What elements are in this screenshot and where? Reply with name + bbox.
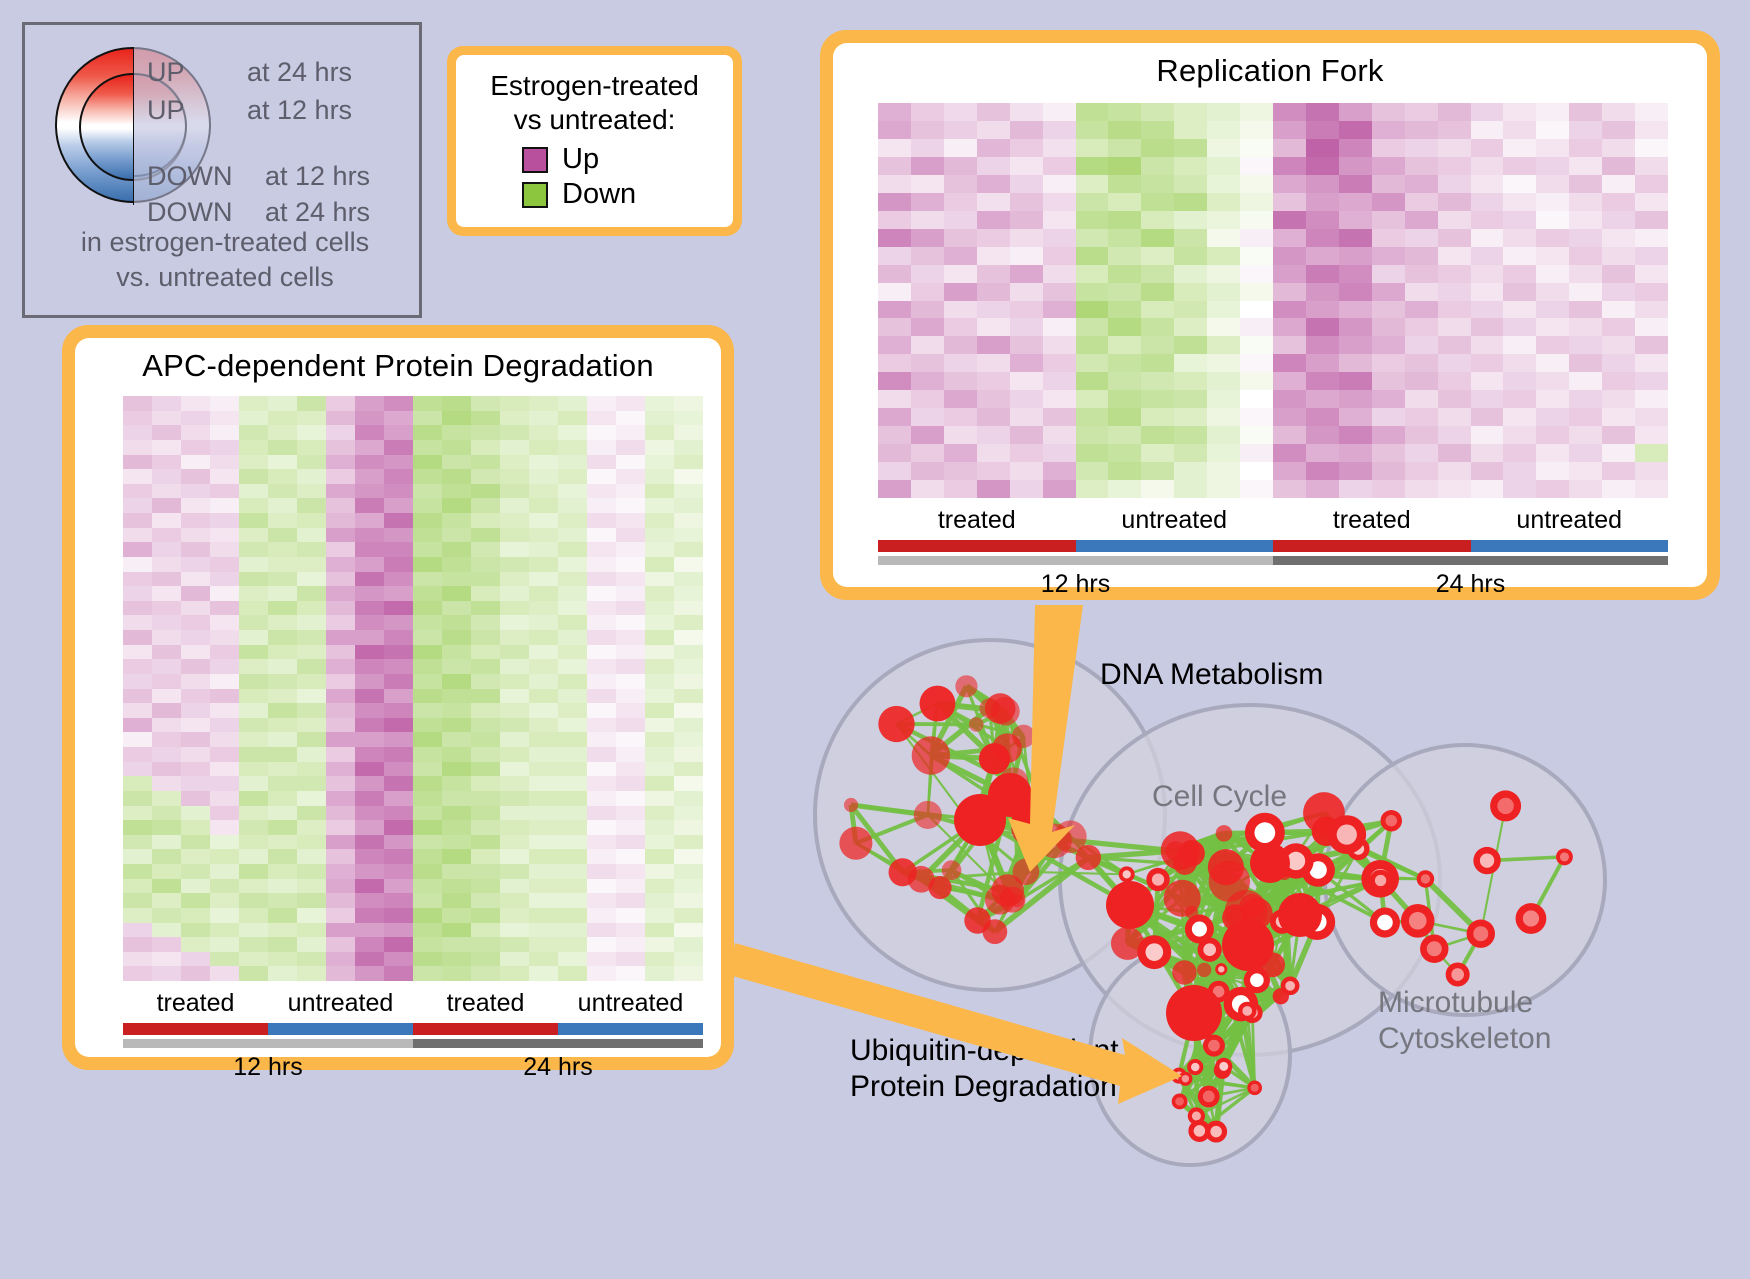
heatmap-cell	[1273, 283, 1306, 301]
heatmap-cell	[297, 615, 326, 630]
heatmap-cell	[326, 966, 355, 981]
heatmap-cell	[123, 908, 152, 923]
heatmap-cell	[645, 879, 674, 894]
heatmap-cell	[645, 937, 674, 952]
heatmap-cell	[355, 484, 384, 499]
heatmap-cell	[616, 425, 645, 440]
heatmap-cell	[1602, 426, 1635, 444]
heatmap-cell	[500, 630, 529, 645]
heatmap-cell	[1405, 426, 1438, 444]
heatmap-cell	[442, 425, 471, 440]
heatmap-cell	[674, 806, 703, 821]
heatmap-cell	[500, 674, 529, 689]
network-node	[839, 827, 872, 860]
heatmap-cell	[1043, 301, 1076, 319]
heatmap-cell	[587, 411, 616, 426]
heatmap-cell	[442, 864, 471, 879]
heatmap-cell	[442, 923, 471, 938]
heatmap-cell	[674, 440, 703, 455]
heatmap-cell	[674, 484, 703, 499]
heatmap-cell	[529, 923, 558, 938]
heatmap-cell	[944, 336, 977, 354]
heatmap-cell	[1273, 175, 1306, 193]
heatmap-cell	[471, 615, 500, 630]
heatmap-cell	[152, 776, 181, 791]
network-node	[985, 885, 1015, 915]
heatmap-cell	[558, 542, 587, 557]
replication-fork-title: Replication Fork	[833, 43, 1707, 89]
heatmap-cell	[210, 615, 239, 630]
heatmap-cell	[239, 732, 268, 747]
heatmap-cell	[529, 893, 558, 908]
heatmap-cell	[326, 469, 355, 484]
network-node-core-fill	[1191, 1063, 1199, 1071]
heatmap-cell	[413, 966, 442, 981]
network-node	[988, 773, 1032, 817]
heatmap-cell	[268, 601, 297, 616]
heatmap-cell	[1438, 175, 1471, 193]
heatmap-cell	[123, 411, 152, 426]
heatmap-cell	[210, 893, 239, 908]
apc-time-bar	[123, 1039, 703, 1048]
heatmap-cell	[1602, 247, 1635, 265]
heatmap-cell	[384, 455, 413, 470]
heatmap-cell	[1405, 265, 1438, 283]
heatmap-cell	[355, 455, 384, 470]
heatmap-cell	[1043, 372, 1076, 390]
heatmap-cell	[1207, 480, 1240, 498]
heatmap-cell	[123, 498, 152, 513]
heatmap-cell	[471, 732, 500, 747]
heatmap-cell	[587, 879, 616, 894]
heatmap-cell	[442, 411, 471, 426]
heatmap-cell	[384, 586, 413, 601]
heatmap-cell	[239, 557, 268, 572]
heatmap-cell	[1240, 247, 1273, 265]
heatmap-cell	[1207, 157, 1240, 175]
heatmap-cell	[471, 586, 500, 601]
heatmap-cell	[1339, 211, 1372, 229]
heatmap-cell	[1141, 336, 1174, 354]
heatmap-cell	[1471, 390, 1504, 408]
heatmap-cell	[181, 908, 210, 923]
heatmap-cell	[297, 952, 326, 967]
heatmap-cell	[355, 674, 384, 689]
heatmap-cell	[1207, 390, 1240, 408]
heatmap-cell	[1043, 336, 1076, 354]
heatmap-cell	[355, 835, 384, 850]
heatmap-cell	[123, 572, 152, 587]
heatmap-cell	[471, 952, 500, 967]
heatmap-cell	[1372, 301, 1405, 319]
legend-item-down: Down	[522, 178, 723, 211]
heatmap-cell	[442, 645, 471, 660]
heatmap-cell	[645, 849, 674, 864]
heatmap-cell	[442, 893, 471, 908]
heatmap-cell	[558, 615, 587, 630]
network-node	[1076, 845, 1101, 870]
heatmap-cell	[977, 211, 1010, 229]
heatmap-cell	[1010, 103, 1043, 121]
heatmap-cell	[1635, 390, 1668, 408]
heatmap-cell	[355, 425, 384, 440]
heatmap-cell	[1503, 175, 1536, 193]
heatmap-cell	[326, 674, 355, 689]
heatmap-cell	[297, 791, 326, 806]
heatmap-cell	[1010, 354, 1043, 372]
heatmap-cell	[587, 528, 616, 543]
heatmap-cell	[1043, 193, 1076, 211]
heatmap-cell	[558, 601, 587, 616]
heatmap-cell	[1240, 121, 1273, 139]
network-node	[1013, 858, 1040, 885]
heatmap-cell	[297, 820, 326, 835]
network-svg	[800, 615, 1750, 1279]
heatmap-cell	[558, 762, 587, 777]
up-label: Up	[562, 143, 599, 176]
heatmap-cell	[529, 864, 558, 879]
heatmap-cell	[123, 630, 152, 645]
network-node-core-fill	[1146, 943, 1164, 961]
network-node	[878, 706, 914, 742]
heatmap-cell	[1306, 283, 1339, 301]
heatmap-cell	[181, 411, 210, 426]
heatmap-cell	[529, 645, 558, 660]
heatmap-cell	[326, 513, 355, 528]
heatmap-cell	[326, 601, 355, 616]
heatmap-cell	[1405, 103, 1438, 121]
heatmap-cell	[152, 513, 181, 528]
heatmap-cell	[500, 440, 529, 455]
heatmap-cell	[674, 864, 703, 879]
heatmap-cell	[1240, 318, 1273, 336]
heatmap-cell	[558, 747, 587, 762]
heatmap-cell	[1569, 175, 1602, 193]
heatmap-cell	[268, 572, 297, 587]
heatmap-cell	[123, 674, 152, 689]
heatmap-cell	[1405, 318, 1438, 336]
heatmap-cell	[1141, 480, 1174, 498]
heatmap-cell	[1108, 426, 1141, 444]
heatmap-cell	[529, 572, 558, 587]
heatmap-cell	[297, 659, 326, 674]
heatmap-cell	[1141, 444, 1174, 462]
heatmap-cell	[558, 718, 587, 733]
heatmap-cell	[1405, 211, 1438, 229]
heatmap-cell	[297, 966, 326, 981]
heatmap-cell	[384, 893, 413, 908]
heatmap-cell	[587, 849, 616, 864]
heatmap-cell	[1240, 103, 1273, 121]
heatmap-cell	[1108, 444, 1141, 462]
heatmap-cell	[384, 601, 413, 616]
heatmap-cell	[442, 937, 471, 952]
heatmap-cell	[645, 425, 674, 440]
heatmap-cell	[413, 718, 442, 733]
heatmap-cell	[529, 542, 558, 557]
heatmap-cell	[911, 480, 944, 498]
heatmap-cell	[442, 835, 471, 850]
heatmap-cell	[1471, 211, 1504, 229]
heatmap-cell	[977, 121, 1010, 139]
heatmap-cell	[944, 229, 977, 247]
heatmap-cell	[413, 923, 442, 938]
updown-title-line-2: vs untreated:	[466, 103, 723, 137]
heatmap-cell	[123, 835, 152, 850]
heatmap-cell	[239, 835, 268, 850]
heatmap-cell	[500, 937, 529, 952]
heatmap-cell	[1503, 265, 1536, 283]
heatmap-cell	[1108, 318, 1141, 336]
heatmap-cell	[413, 557, 442, 572]
heatmap-cell	[123, 484, 152, 499]
heatmap-cell	[1569, 247, 1602, 265]
heatmap-cell	[645, 542, 674, 557]
heatmap-cell	[181, 542, 210, 557]
heatmap-cell	[1043, 121, 1076, 139]
heatmap-cell	[210, 747, 239, 762]
heatmap-cell	[1569, 121, 1602, 139]
heatmap-cell	[1372, 121, 1405, 139]
heatmap-cell	[181, 557, 210, 572]
network-node	[912, 736, 950, 774]
treatment-color-bar-segment	[268, 1023, 413, 1035]
heatmap-cell	[1569, 372, 1602, 390]
heatmap-cell	[558, 732, 587, 747]
heatmap-cell	[384, 484, 413, 499]
heatmap-cell	[1471, 247, 1504, 265]
heatmap-cell	[297, 528, 326, 543]
heatmap-cell	[1174, 175, 1207, 193]
heatmap-cell	[529, 879, 558, 894]
heatmap-cell	[529, 806, 558, 821]
heatmap-cell	[326, 557, 355, 572]
heatmap-cell	[674, 513, 703, 528]
apc-heatmap	[123, 396, 703, 981]
heatmap-cell	[1174, 354, 1207, 372]
heatmap-cell	[1207, 426, 1240, 444]
apc-treatment-bar	[123, 1023, 703, 1035]
heatmap-cell	[1174, 480, 1207, 498]
heatmap-cell	[977, 247, 1010, 265]
heatmap-cell	[558, 455, 587, 470]
heatmap-cell	[384, 572, 413, 587]
heatmap-cell	[616, 820, 645, 835]
heatmap-cell	[1635, 408, 1668, 426]
network-node	[1106, 881, 1154, 929]
heatmap-cell	[239, 469, 268, 484]
heatmap-cell	[944, 390, 977, 408]
heatmap-cell	[500, 513, 529, 528]
heatmap-cell	[181, 396, 210, 411]
heatmap-cell	[500, 747, 529, 762]
heatmap-cell	[239, 806, 268, 821]
heatmap-cell	[152, 806, 181, 821]
heatmap-cell	[1010, 265, 1043, 283]
heatmap-cell	[297, 835, 326, 850]
heatmap-cell	[1471, 103, 1504, 121]
heatmap-cell	[674, 674, 703, 689]
heatmap-cell	[442, 498, 471, 513]
heatmap-cell	[152, 762, 181, 777]
heatmap-cell	[1602, 372, 1635, 390]
heatmap-cell	[268, 791, 297, 806]
heatmap-cell	[268, 455, 297, 470]
heatmap-cell	[674, 937, 703, 952]
heatmap-cell	[1635, 121, 1668, 139]
heatmap-cell	[558, 396, 587, 411]
network-node	[980, 698, 1000, 718]
heatmap-cell	[558, 586, 587, 601]
network-node-core-fill	[1337, 825, 1357, 845]
heatmap-cell	[326, 776, 355, 791]
heatmap-cell	[1569, 139, 1602, 157]
heatmap-cell	[1141, 462, 1174, 480]
heatmap-cell	[1174, 157, 1207, 175]
updown-title-line-1: Estrogen-treated	[466, 69, 723, 103]
heatmap-cell	[326, 937, 355, 952]
heatmap-cell	[616, 440, 645, 455]
heatmap-cell	[1471, 462, 1504, 480]
heatmap-cell	[326, 689, 355, 704]
heatmap-cell	[1372, 103, 1405, 121]
heatmap-cell	[500, 718, 529, 733]
heatmap-cell	[413, 615, 442, 630]
heatmap-cell	[355, 893, 384, 908]
heatmap-cell	[1405, 462, 1438, 480]
heatmap-cell	[384, 498, 413, 513]
heatmap-cell	[878, 139, 911, 157]
heatmap-cell	[355, 791, 384, 806]
heatmap-cell	[616, 674, 645, 689]
heatmap-cell	[355, 849, 384, 864]
heatmap-cell	[268, 893, 297, 908]
heatmap-cell	[1503, 229, 1536, 247]
heatmap-cell	[911, 354, 944, 372]
heatmap-cell	[911, 121, 944, 139]
heatmap-cell	[326, 791, 355, 806]
heatmap-cell	[645, 703, 674, 718]
replication-fork-column-labels: treateduntreatedtreateduntreated	[878, 506, 1668, 535]
heatmap-cell	[878, 247, 911, 265]
heatmap-cell	[587, 806, 616, 821]
heatmap-cell	[442, 966, 471, 981]
heatmap-cell	[123, 893, 152, 908]
heatmap-cell	[239, 484, 268, 499]
heatmap-cell	[123, 689, 152, 704]
heatmap-cell	[1043, 103, 1076, 121]
heatmap-cell	[1635, 318, 1668, 336]
heatmap-cell	[1306, 354, 1339, 372]
heatmap-cell	[1503, 426, 1536, 444]
heatmap-cell	[413, 411, 442, 426]
network-node	[942, 860, 962, 880]
heatmap-cell	[529, 586, 558, 601]
heatmap-cell	[1405, 193, 1438, 211]
heatmap-cell	[674, 893, 703, 908]
footer-line-2: vs. untreated cells	[25, 260, 425, 295]
heatmap-cell	[355, 776, 384, 791]
heatmap-cell	[413, 893, 442, 908]
heatmap-cell	[384, 879, 413, 894]
heatmap-cell	[181, 966, 210, 981]
heatmap-cell	[529, 557, 558, 572]
heatmap-cell	[123, 425, 152, 440]
network-node-core-fill	[1421, 874, 1430, 883]
heatmap-cell	[558, 835, 587, 850]
heatmap-cell	[1635, 480, 1668, 498]
heatmap-cell	[152, 923, 181, 938]
network-node-core-fill	[1123, 870, 1131, 878]
heatmap-cell	[442, 689, 471, 704]
heatmap-cell	[1471, 354, 1504, 372]
heatmap-cell	[1010, 121, 1043, 139]
heatmap-cell	[1141, 390, 1174, 408]
heatmap-cell	[645, 528, 674, 543]
heatmap-cell	[911, 193, 944, 211]
heatmap-cell	[558, 776, 587, 791]
heatmap-cell	[1108, 265, 1141, 283]
heatmap-cell	[413, 791, 442, 806]
heatmap-cell	[529, 776, 558, 791]
heatmap-cell	[239, 615, 268, 630]
heatmap-cell	[1339, 229, 1372, 247]
heatmap-cell	[944, 354, 977, 372]
heatmap-cell	[1010, 229, 1043, 247]
heatmap-cell	[911, 229, 944, 247]
heatmap-cell	[1141, 408, 1174, 426]
heatmap-cell	[326, 952, 355, 967]
heatmap-cell	[1405, 336, 1438, 354]
heatmap-cell	[878, 318, 911, 336]
heatmap-cell	[645, 732, 674, 747]
heatmap-cell	[210, 630, 239, 645]
heatmap-cell	[1240, 157, 1273, 175]
heatmap-cell	[1471, 336, 1504, 354]
heatmap-cell	[297, 557, 326, 572]
heatmap-cell	[616, 498, 645, 513]
heatmap-cell	[1569, 462, 1602, 480]
heatmap-cell	[471, 440, 500, 455]
heatmap-cell	[1569, 283, 1602, 301]
heatmap-cell	[1141, 229, 1174, 247]
heatmap-cell	[645, 893, 674, 908]
heatmap-cell	[1503, 301, 1536, 319]
heatmap-cell	[587, 659, 616, 674]
heatmap-cell	[210, 455, 239, 470]
heatmap-cell	[587, 864, 616, 879]
heatmap-cell	[442, 703, 471, 718]
heatmap-cell	[1536, 480, 1569, 498]
heatmap-cell	[911, 390, 944, 408]
heatmap-cell	[297, 689, 326, 704]
heatmap-cell	[442, 820, 471, 835]
heatmap-cell	[529, 966, 558, 981]
heatmap-cell	[326, 572, 355, 587]
network-node-core-fill	[1210, 1126, 1221, 1137]
heatmap-cell	[442, 469, 471, 484]
heatmap-cell	[384, 835, 413, 850]
network-node-core-fill	[1182, 1075, 1189, 1082]
heatmap-cell	[384, 791, 413, 806]
cluster-label-dna-metabolism: DNA Metabolism	[1100, 657, 1323, 693]
heatmap-cell	[181, 498, 210, 513]
heatmap-cell	[413, 455, 442, 470]
heatmap-cell	[1240, 139, 1273, 157]
heatmap-cell	[442, 879, 471, 894]
heatmap-cell	[1174, 193, 1207, 211]
heatmap-cell	[123, 542, 152, 557]
